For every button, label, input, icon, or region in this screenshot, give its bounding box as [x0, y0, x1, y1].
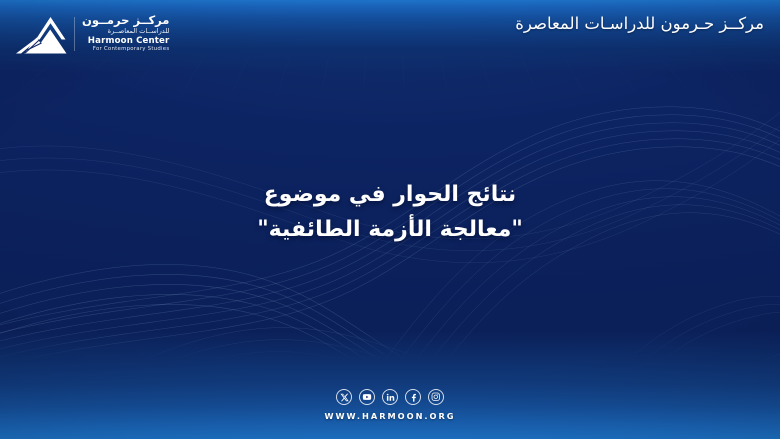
facebook-icon[interactable]: [405, 389, 421, 405]
slide-footer: WWW.HARMOON.ORG: [0, 389, 780, 421]
x-twitter-icon[interactable]: [336, 389, 352, 405]
logo-english-primary: Harmoon Center: [82, 37, 169, 46]
logo-english-secondary: For Contemporary Studies: [82, 47, 169, 53]
youtube-icon[interactable]: [359, 389, 375, 405]
social-links: [0, 389, 780, 405]
logo-arabic-secondary: للدراســات المعاصــرة: [82, 28, 169, 35]
header-organization-title: مركــز حـرمون للدراسـات المعاصرة: [515, 14, 764, 33]
instagram-icon[interactable]: [428, 389, 444, 405]
title-line-1: نتائج الحوار في موضوع: [0, 178, 780, 213]
linkedin-icon[interactable]: [382, 389, 398, 405]
slide-header: مركــز حرمــون للدراســات المعاصــرة Har…: [0, 0, 780, 70]
harmoon-logo[interactable]: مركــز حرمــون للدراســات المعاصــرة Har…: [14, 13, 169, 55]
website-url[interactable]: WWW.HARMOON.ORG: [0, 411, 780, 421]
slide-canvas: مركــز حرمــون للدراســات المعاصــرة Har…: [0, 0, 780, 439]
title-line-2: "معالجة الأزمة الطائفية": [0, 213, 780, 248]
logo-text-block: مركــز حرمــون للدراســات المعاصــرة Har…: [82, 15, 169, 52]
logo-arabic-primary: مركــز حرمــون: [82, 15, 169, 27]
footer-gradient: [0, 331, 780, 439]
harmoon-mountain-logo-icon: [14, 13, 68, 55]
slide-title: نتائج الحوار في موضوع "معالجة الأزمة الط…: [0, 178, 780, 248]
logo-divider: [74, 17, 75, 51]
